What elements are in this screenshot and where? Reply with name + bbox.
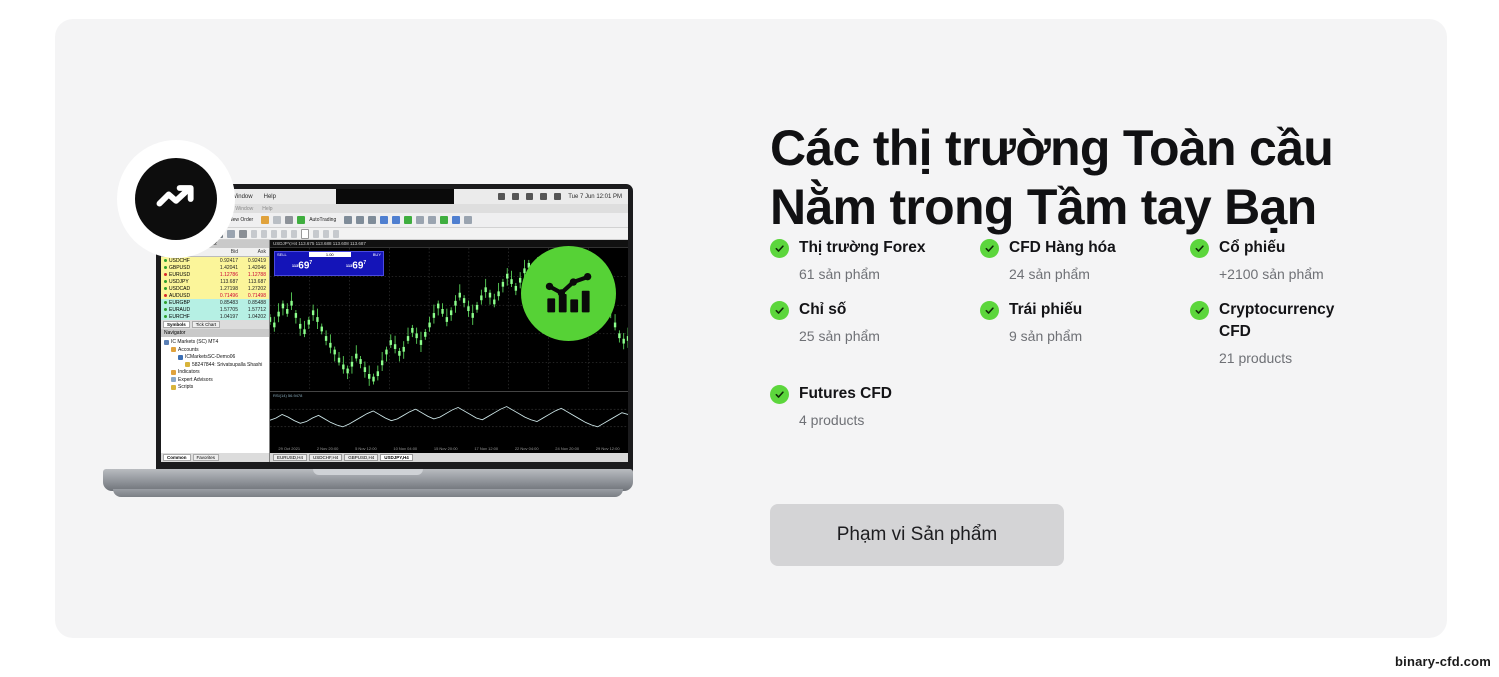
ask-cell: 1.12788 xyxy=(238,272,266,278)
feature-title: Trái phiếu xyxy=(1009,299,1082,321)
laptop-base xyxy=(103,469,633,491)
menubar-status-icons: Tue 7 Jun 12:01 PM xyxy=(498,193,622,200)
feature-item: Thị trường Forex61 sản phẩm xyxy=(770,237,980,283)
market-watch-row[interactable]: USDCAD1.271981.27202 xyxy=(161,285,269,292)
node-icon xyxy=(178,355,183,360)
market-watch-tab-symbols[interactable]: Symbols xyxy=(163,321,190,328)
navigator-node[interactable]: Indicators xyxy=(164,369,266,375)
x-axis-label: 5 Nov 12:00 xyxy=(355,446,377,451)
rsi-chart-svg xyxy=(270,392,628,444)
product-range-button[interactable]: Phạm vi Sản phẩm xyxy=(770,504,1064,566)
headline-line-1: Các thị trường Toàn cầu xyxy=(770,120,1333,176)
bid-cell: 0.92417 xyxy=(210,258,238,264)
node-icon xyxy=(185,362,190,367)
print-icon[interactable] xyxy=(273,216,281,224)
bar-chart-trend-icon xyxy=(543,268,595,320)
direction-dot-icon xyxy=(164,315,167,318)
feature-row: Thị trường Forex61 sản phẩmCFD Hàng hóa2… xyxy=(770,237,1430,283)
node-icon xyxy=(171,377,176,382)
menu-item-help[interactable]: Help xyxy=(264,194,276,200)
x-axis-label: 2 Nov 20:00 xyxy=(317,446,339,451)
ask-cell: 1.57712 xyxy=(238,307,266,313)
feature-subtitle: +2100 sản phẩm xyxy=(1219,265,1324,283)
chart-x-axis: 29 Oct 20212 Nov 20:005 Nov 12:0010 Nov … xyxy=(270,444,628,453)
ask-cell: 0.92419 xyxy=(238,258,266,264)
market-watch-row[interactable]: EURCHF1.041971.04202 xyxy=(161,313,269,320)
ask-cell: 1.27202 xyxy=(238,286,266,292)
feature-subtitle: 61 sản phẩm xyxy=(799,265,925,283)
x-axis-label: 17 Nov 12:00 xyxy=(474,446,498,451)
ask-cell: 0.71498 xyxy=(238,293,266,299)
symbol-cell: EURCHF xyxy=(164,314,210,320)
one-click-prices: 113697 113697 xyxy=(275,257,383,275)
market-watch-panel: Market Watch: 12:30:82 Symbol Bid Ask US… xyxy=(161,240,270,462)
feature-subtitle: 9 sản phẩm xyxy=(1009,327,1082,345)
market-watch-row[interactable]: AUDUSD0.714960.71498 xyxy=(161,292,269,299)
symbol-cell: USDCHF xyxy=(164,258,210,264)
feature-list: Thị trường Forex61 sản phẩmCFD Hàng hóa2… xyxy=(770,237,1430,430)
feature-text: Cryptocurrency CFD21 products xyxy=(1219,299,1354,367)
timeframe-h1-icon[interactable] xyxy=(291,230,297,238)
screen-notch xyxy=(336,189,454,204)
symbol-cell: EURUSD xyxy=(164,272,210,278)
symbol-cell: USDJPY xyxy=(164,279,210,285)
ask-cell: 1.04202 xyxy=(238,314,266,320)
market-watch-tab-tickchart[interactable]: Tick Chart xyxy=(192,321,220,328)
battery-icon[interactable] xyxy=(498,193,505,200)
feature-text: Futures CFD4 products xyxy=(799,383,892,429)
navigator-node[interactable]: ICMarketsSC-Demo06 xyxy=(164,354,266,360)
sell-price[interactable]: 113697 xyxy=(292,260,312,271)
feature-text: Trái phiếu9 sản phẩm xyxy=(1009,299,1082,345)
direction-dot-icon xyxy=(164,308,167,311)
column-bid: Bid xyxy=(210,249,238,255)
feature-item: CFD Hàng hóa24 sản phẩm xyxy=(980,237,1190,283)
feature-item: Cổ phiếu+2100 sản phẩm xyxy=(1190,237,1410,283)
timeframe-m1-icon[interactable] xyxy=(251,230,257,238)
market-watch-row[interactable]: USDCHF0.924170.92419 xyxy=(161,257,269,264)
bid-cell: 1.12786 xyxy=(210,272,238,278)
feature-title: Cổ phiếu xyxy=(1219,237,1324,259)
bid-cell: 1.04197 xyxy=(210,314,238,320)
check-icon xyxy=(770,239,789,258)
navigator-tree: IC Markets (SC) MT4AccountsICMarketsSC-D… xyxy=(161,337,269,453)
node-label: Indicators xyxy=(178,369,200,375)
feature-text: Thị trường Forex61 sản phẩm xyxy=(799,237,925,283)
feature-title: Thị trường Forex xyxy=(799,237,925,259)
trend-up-icon xyxy=(154,177,198,221)
market-watch-row[interactable]: EURAUD1.577051.57712 xyxy=(161,306,269,313)
x-axis-label: 24 Nov 20:00 xyxy=(555,446,579,451)
timeframe-m5-icon[interactable] xyxy=(261,230,267,238)
timeframe-icon[interactable] xyxy=(440,216,448,224)
timeframe-d1-icon[interactable] xyxy=(313,230,319,238)
market-watch-row[interactable]: EURUSD1.127861.12788 xyxy=(161,271,269,278)
candlestick-chart-icon[interactable] xyxy=(356,216,364,224)
mt4-menu-window[interactable]: Window xyxy=(235,206,253,212)
direction-dot-icon xyxy=(164,287,167,290)
ask-cell: 1.42046 xyxy=(238,265,266,271)
buy-price[interactable]: 113697 xyxy=(346,260,366,271)
direction-dot-icon xyxy=(164,294,167,297)
market-watch-tabs: Symbols Tick Chart xyxy=(161,320,269,329)
bid-cell: 1.27198 xyxy=(210,286,238,292)
chart-tab[interactable]: USDJPY,H4 xyxy=(380,454,413,461)
rsi-indicator: RSI(14) 56.9478 xyxy=(270,391,628,444)
grid-icon[interactable] xyxy=(285,216,293,224)
timeframe-mn-icon[interactable] xyxy=(333,230,339,238)
trend-badge-inner xyxy=(135,158,217,240)
autotrading-label[interactable]: AutoTrading xyxy=(309,217,336,223)
feature-subtitle: 21 products xyxy=(1219,349,1354,367)
feature-item: Chỉ số25 sản phẩm xyxy=(770,299,980,367)
navigator-tabs: Common Favorites xyxy=(161,453,269,462)
bid-cell: 1.42041 xyxy=(210,265,238,271)
timeframe-m15-icon[interactable] xyxy=(271,230,277,238)
node-label: Scripts xyxy=(178,384,193,390)
content-column: Các thị trường Toàn cầu Nằm trong Tầm ta… xyxy=(770,19,1447,638)
bid-cell: 0.71496 xyxy=(210,293,238,299)
rsi-label: RSI(14) 56.9478 xyxy=(273,393,302,398)
zoom-in-icon[interactable] xyxy=(380,216,388,224)
label-icon[interactable] xyxy=(227,230,235,238)
feature-row: Chỉ số25 sản phẩmTrái phiếu9 sản phẩmCry… xyxy=(770,299,1430,367)
direction-dot-icon xyxy=(164,280,167,283)
node-icon xyxy=(171,347,176,352)
x-axis-label: 15 Nov 20:00 xyxy=(434,446,458,451)
feature-text: CFD Hàng hóa24 sản phẩm xyxy=(1009,237,1116,283)
timeframe-h4-icon[interactable] xyxy=(301,229,309,239)
node-icon xyxy=(164,340,169,345)
feature-row: Futures CFD4 products xyxy=(770,383,1430,429)
feature-title: Cryptocurrency CFD xyxy=(1219,299,1354,343)
bid-cell: 1.57705 xyxy=(210,307,238,313)
chart-badge xyxy=(521,246,616,341)
chart-tab[interactable]: EURUSD,H4 xyxy=(273,454,307,461)
window-icon[interactable] xyxy=(464,216,472,224)
market-watch-row[interactable]: GBPUSD1.420411.42046 xyxy=(161,264,269,271)
product-visual: Edit View Go Window Help Tue 7 Jun 12 xyxy=(55,19,755,638)
market-watch-rows: USDCHF0.924170.92419GBPUSD1.420411.42046… xyxy=(161,257,269,320)
navigator-node[interactable]: Accounts xyxy=(164,347,266,353)
node-label: 58247844: Srivatsupalla Shashi xyxy=(192,362,262,368)
menubar-clock: Tue 7 Jun 12:01 PM xyxy=(568,194,622,200)
ask-cell: 0.85488 xyxy=(238,300,266,306)
check-icon xyxy=(770,301,789,320)
feature-subtitle: 4 products xyxy=(799,411,892,429)
check-icon xyxy=(1190,239,1209,258)
navigator-node[interactable]: IC Markets (SC) MT4 xyxy=(164,339,266,345)
node-label: IC Markets (SC) MT4 xyxy=(171,339,218,345)
feature-item: Futures CFD4 products xyxy=(770,383,980,429)
feature-subtitle: 25 sản phẩm xyxy=(799,327,880,345)
symbol-cell: EURAUD xyxy=(164,307,210,313)
feature-item: Trái phiếu9 sản phẩm xyxy=(980,299,1190,367)
navigator-node[interactable]: 58247844: Srivatsupalla Shashi xyxy=(164,362,266,368)
x-axis-label: 29 Nov 12:00 xyxy=(596,446,620,451)
direction-dot-icon xyxy=(164,259,167,262)
chart-tab[interactable]: GBPUSD,H4 xyxy=(344,454,378,461)
navigator-title: Navigator xyxy=(161,329,269,337)
autotrading-icon[interactable] xyxy=(297,216,305,224)
symbol-cell: GBPUSD xyxy=(164,265,210,271)
templates-icon[interactable] xyxy=(452,216,460,224)
feature-title: CFD Hàng hóa xyxy=(1009,237,1116,259)
zoom-out-icon[interactable] xyxy=(392,216,400,224)
direction-dot-icon xyxy=(164,266,167,269)
feature-title: Futures CFD xyxy=(799,383,892,405)
node-icon xyxy=(171,370,176,375)
node-icon xyxy=(171,385,176,390)
control-center-icon[interactable] xyxy=(526,193,533,200)
symbol-cell: AUDUSD xyxy=(164,293,210,299)
search-icon[interactable] xyxy=(540,193,547,200)
ask-cell: 113.687 xyxy=(238,279,266,285)
node-label: ICMarketsSC-Demo06 xyxy=(185,354,235,360)
check-icon xyxy=(980,239,999,258)
one-click-trading-panel[interactable]: SELL 1.00 BUY 113697 113697 xyxy=(274,251,384,276)
bid-cell: 113.687 xyxy=(210,279,238,285)
bar-chart-icon[interactable] xyxy=(344,216,352,224)
navigator-tab-common[interactable]: Common xyxy=(163,454,191,461)
mt4-menu-help[interactable]: Help xyxy=(262,206,272,212)
watermark: binary-cfd.com xyxy=(1395,654,1491,669)
expert-advisor-icon[interactable] xyxy=(261,216,269,224)
mt4-drawing-toolbar xyxy=(161,228,628,240)
feature-subtitle: 24 sản phẩm xyxy=(1009,265,1116,283)
symbol-cell: EURGBP xyxy=(164,300,210,306)
x-axis-label: 22 Nov 04:00 xyxy=(515,446,539,451)
check-icon xyxy=(980,301,999,320)
navigator-node[interactable]: Scripts xyxy=(164,384,266,390)
trend-badge xyxy=(117,140,235,258)
direction-dot-icon xyxy=(164,301,167,304)
market-watch-row[interactable]: USDJPY113.687113.687 xyxy=(161,278,269,285)
x-axis-label: 29 Oct 2021 xyxy=(278,446,300,451)
arrow-tool-icon[interactable] xyxy=(239,230,247,238)
headline-line-2: Nằm trong Tầm tay Bạn xyxy=(770,179,1317,235)
feature-item: Cryptocurrency CFD21 products xyxy=(1190,299,1410,367)
timeframe-m30-icon[interactable] xyxy=(281,230,287,238)
column-ask: Ask xyxy=(238,249,266,255)
display-icon[interactable] xyxy=(512,193,519,200)
siri-icon[interactable] xyxy=(554,193,561,200)
feature-text: Chỉ số25 sản phẩm xyxy=(799,299,880,345)
check-icon xyxy=(1190,301,1209,320)
node-label: Accounts xyxy=(178,347,199,353)
check-icon xyxy=(770,385,789,404)
chart-tabs: EURUSD,H4USDCHF,H4GBPUSD,H4USDJPY,H4 xyxy=(270,453,628,462)
feature-title: Chỉ số xyxy=(799,299,880,321)
feature-text: Cổ phiếu+2100 sản phẩm xyxy=(1219,237,1324,283)
navigator-tab-favorites[interactable]: Favorites xyxy=(193,454,220,461)
x-axis-label: 10 Nov 04:00 xyxy=(393,446,417,451)
auto-scroll-icon[interactable] xyxy=(404,216,412,224)
line-chart-icon[interactable] xyxy=(368,216,376,224)
direction-dot-icon xyxy=(164,273,167,276)
market-watch-row[interactable]: EURGBP0.854830.85488 xyxy=(161,299,269,306)
indicators-icon[interactable] xyxy=(428,216,436,224)
promo-card: Edit View Go Window Help Tue 7 Jun 12 xyxy=(55,19,1447,638)
laptop-foot xyxy=(113,489,623,497)
symbol-cell: USDCAD xyxy=(164,286,210,292)
node-label: Expert Advisors xyxy=(178,377,213,383)
chart-shift-icon[interactable] xyxy=(416,216,424,224)
new-order-label[interactable]: New Order xyxy=(229,217,253,223)
navigator-panel: Navigator IC Markets (SC) MT4AccountsICM… xyxy=(161,329,269,462)
bid-cell: 0.85483 xyxy=(210,300,238,306)
timeframe-w1-icon[interactable] xyxy=(323,230,329,238)
chart-tab[interactable]: USDCHF,H4 xyxy=(309,454,342,461)
navigator-node[interactable]: Expert Advisors xyxy=(164,377,266,383)
page-title: Các thị trường Toàn cầu Nằm trong Tầm ta… xyxy=(770,119,1410,237)
